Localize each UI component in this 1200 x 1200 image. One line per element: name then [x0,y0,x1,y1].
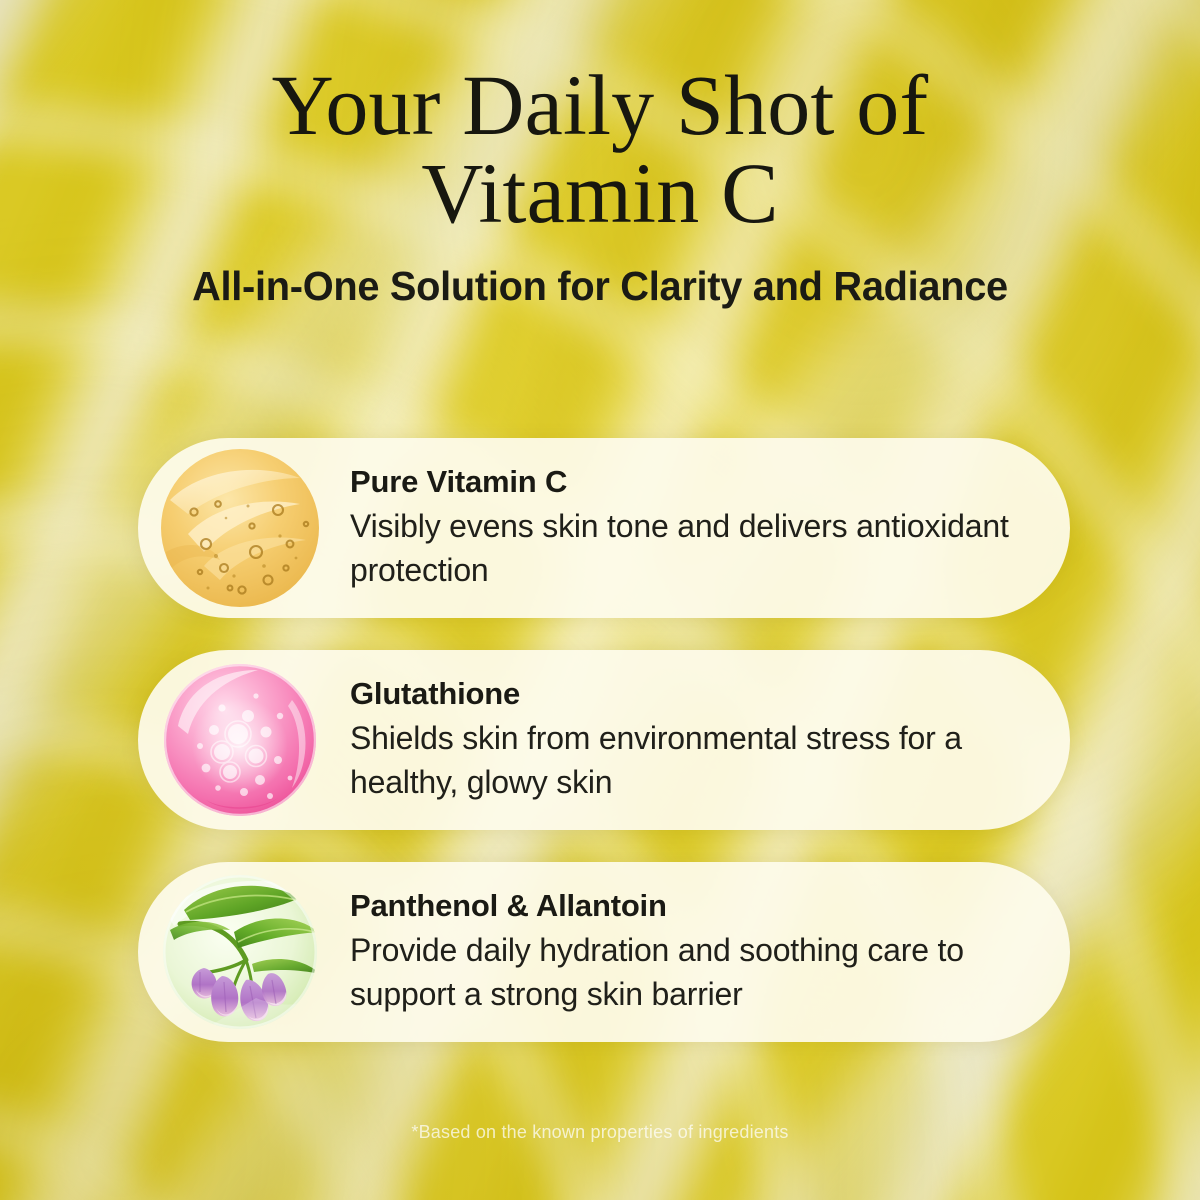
ingredient-description: Shields skin from environmental stress f… [350,716,1044,804]
ingredient-description: Provide daily hydration and soothing car… [350,928,1044,1016]
glutathione-pink-droplet-icon [160,660,320,820]
header: Your Daily Shot ofVitamin C All-in-One S… [0,62,1200,310]
ingredient-description: Visibly evens skin tone and delivers ant… [350,504,1044,592]
comfrey-plant-flower-icon [160,872,320,1032]
ingredient-card-text: Glutathione Shields skin from environmen… [350,676,1070,805]
footnote-disclaimer: *Based on the known properties of ingred… [0,1122,1200,1143]
ingredient-card-list: Pure Vitamin C Visibly evens skin tone a… [138,438,1070,1042]
page-title-line-2: Vitamin C [421,145,778,241]
ingredient-title: Pure Vitamin C [350,464,1044,501]
ingredient-card-panthenol-allantoin[interactable]: Panthenol & Allantoin Provide daily hydr… [138,862,1070,1042]
promo-banner: Your Daily Shot ofVitamin C All-in-One S… [0,0,1200,1200]
ingredient-card-vitamin-c[interactable]: Pure Vitamin C Visibly evens skin tone a… [138,438,1070,618]
ingredient-title: Panthenol & Allantoin [350,888,1044,925]
ingredient-card-text: Pure Vitamin C Visibly evens skin tone a… [350,464,1070,593]
ingredient-title: Glutathione [350,676,1044,713]
ingredient-card-text: Panthenol & Allantoin Provide daily hydr… [350,888,1070,1017]
ingredient-card-glutathione[interactable]: Glutathione Shields skin from environmen… [138,650,1070,830]
page-title-line-1: Your Daily Shot of [272,57,929,153]
page-title: Your Daily Shot ofVitamin C [0,62,1200,237]
vitamin-c-gel-swatch-icon [160,448,320,608]
page-subtitle: All-in-One Solution for Clarity and Radi… [18,263,1182,310]
